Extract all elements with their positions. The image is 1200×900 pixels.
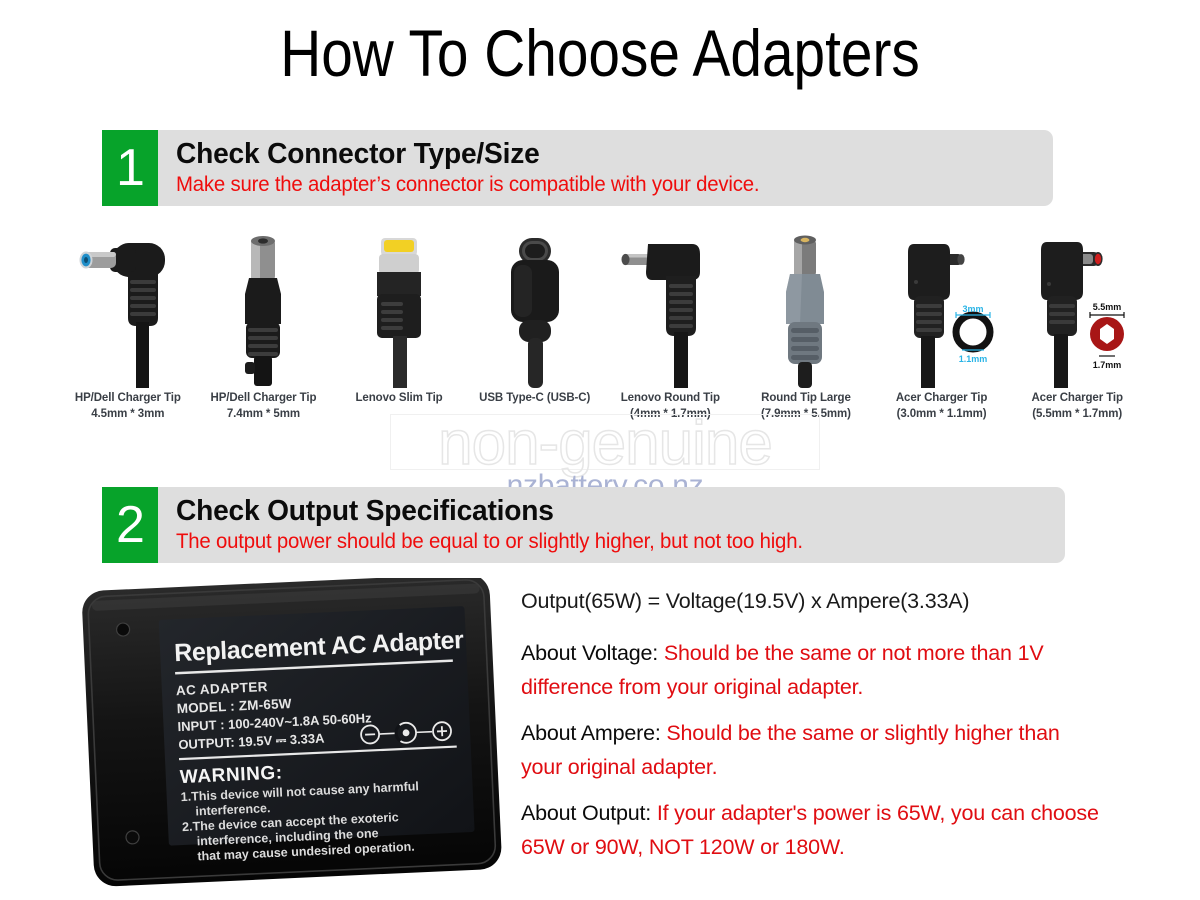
usb-type-c-icon: [467, 232, 603, 390]
lenovo-slim-tip-icon: [331, 232, 467, 390]
spec-ampere: About Ampere: Should be the same or slig…: [521, 716, 1101, 784]
step-subtitle-1: Make sure the adapter’s connector is com…: [176, 172, 1027, 198]
connector-dimension-5: (4mm * 1.7mm): [621, 406, 720, 422]
connector-item-round-large: Round Tip Large (7.9mm * 5.5mm): [738, 232, 874, 442]
round-tip-large-icon: [738, 232, 874, 390]
step-heading-1: Check Connector Type/Size: [176, 138, 1027, 170]
connector-label-8: Acer Charger Tip (5.5mm * 1.7mm): [1031, 390, 1123, 422]
connector-label-2: HP/Dell Charger Tip 7.4mm * 5mm: [210, 390, 316, 422]
acer-small-dimension-callout: 3mm 1.1mm: [956, 304, 990, 364]
acer-charger-tip-small-icon: 3mm 1.1mm: [874, 232, 1010, 390]
output-formula: Output(65W) = Voltage(19.5V) x Ampere(3.…: [521, 586, 1101, 616]
step-number-badge-1: 1: [102, 130, 158, 206]
step-heading-2: Check Output Specifications: [176, 495, 1038, 527]
spec-text-block: Output(65W) = Voltage(19.5V) x Ampere(3.…: [521, 586, 1101, 876]
acer-charger-tip-large-icon: 5.5mm 1.7mm: [1009, 232, 1145, 390]
connector-name-4: USB Type-C (USB-C): [479, 392, 590, 404]
connector-name-6: Round Tip Large: [761, 392, 851, 404]
connector-name-3: Lenovo Slim Tip: [356, 392, 443, 404]
step-subtitle-2: The output power should be equal to or s…: [176, 529, 1038, 555]
connector-label-5: Lenovo Round Tip (4mm * 1.7mm): [621, 390, 720, 422]
adapter-photo: Replacement AC Adapter AC ADAPTER MODEL …: [82, 578, 502, 890]
acer-large-dimension-callout: 5.5mm 1.7mm: [1090, 302, 1124, 370]
svg-text:1.1mm: 1.1mm: [958, 354, 987, 364]
connector-name-8: Acer Charger Tip: [1031, 392, 1123, 404]
connector-name-5: Lenovo Round Tip: [621, 392, 720, 404]
connector-item-hp-dell-4-5mm: HP/Dell Charger Tip 4.5mm * 3mm: [60, 232, 196, 442]
step-header-1: 1 Check Connector Type/Size Make sure th…: [102, 130, 1053, 206]
page-title: How To Choose Adapters: [84, 10, 1116, 96]
connector-item-usb-c: USB Type-C (USB-C): [467, 232, 603, 442]
step-text-block-2: Check Output Specifications The output p…: [158, 487, 1065, 563]
connector-item-lenovo-slim: Lenovo Slim Tip: [331, 232, 467, 442]
connector-label-6: Round Tip Large (7.9mm * 5.5mm): [761, 390, 851, 422]
spec-output: About Output: If your adapter's power is…: [521, 796, 1101, 864]
hp-dell-angled-tip-icon: [60, 232, 196, 390]
connector-dimension-7: (3.0mm * 1.1mm): [896, 406, 988, 422]
svg-text:5.5mm: 5.5mm: [1093, 302, 1122, 312]
connector-item-hp-dell-7-4mm: HP/Dell Charger Tip 7.4mm * 5mm: [196, 232, 332, 442]
spec-output-lead: About Output:: [521, 801, 657, 825]
connector-dimension-1: 4.5mm * 3mm: [75, 406, 181, 422]
connector-name-7: Acer Charger Tip: [896, 392, 988, 404]
connector-label-1: HP/Dell Charger Tip 4.5mm * 3mm: [75, 390, 181, 422]
spec-voltage: About Voltage: Should be the same or not…: [521, 636, 1101, 704]
connector-dimension-2: 7.4mm * 5mm: [210, 406, 316, 422]
step-text-block-1: Check Connector Type/Size Make sure the …: [158, 130, 1053, 206]
connector-gallery: HP/Dell Charger Tip 4.5mm * 3mm: [60, 232, 1145, 442]
lenovo-round-tip-icon: [603, 232, 739, 390]
connector-label-3: Lenovo Slim Tip: [356, 390, 443, 406]
spec-ampere-lead: About Ampere:: [521, 721, 666, 745]
svg-text:1.7mm: 1.7mm: [1093, 360, 1122, 370]
connector-name-1: HP/Dell Charger Tip: [75, 392, 181, 404]
connector-dimension-8: (5.5mm * 1.7mm): [1031, 406, 1123, 422]
connector-label-7: Acer Charger Tip (3.0mm * 1.1mm): [896, 390, 988, 422]
hp-dell-straight-tip-icon: [196, 232, 332, 390]
connector-name-2: HP/Dell Charger Tip: [210, 392, 316, 404]
connector-dimension-6: (7.9mm * 5.5mm): [761, 406, 851, 422]
svg-text:3mm: 3mm: [962, 304, 983, 314]
spec-voltage-lead: About Voltage:: [521, 641, 664, 665]
connector-item-acer-3-0mm: 3mm 1.1mm Acer Charger Tip (3.0mm * 1.1m…: [874, 232, 1010, 442]
step-header-2: 2 Check Output Specifications The output…: [102, 487, 1065, 563]
connector-item-acer-5-5mm: 5.5mm 1.7mm Acer Charger Tip (5.5mm * 1.…: [1009, 232, 1145, 442]
connector-item-lenovo-round: Lenovo Round Tip (4mm * 1.7mm): [603, 232, 739, 442]
step-number-badge-2: 2: [102, 487, 158, 563]
connector-label-4: USB Type-C (USB-C): [479, 390, 590, 406]
